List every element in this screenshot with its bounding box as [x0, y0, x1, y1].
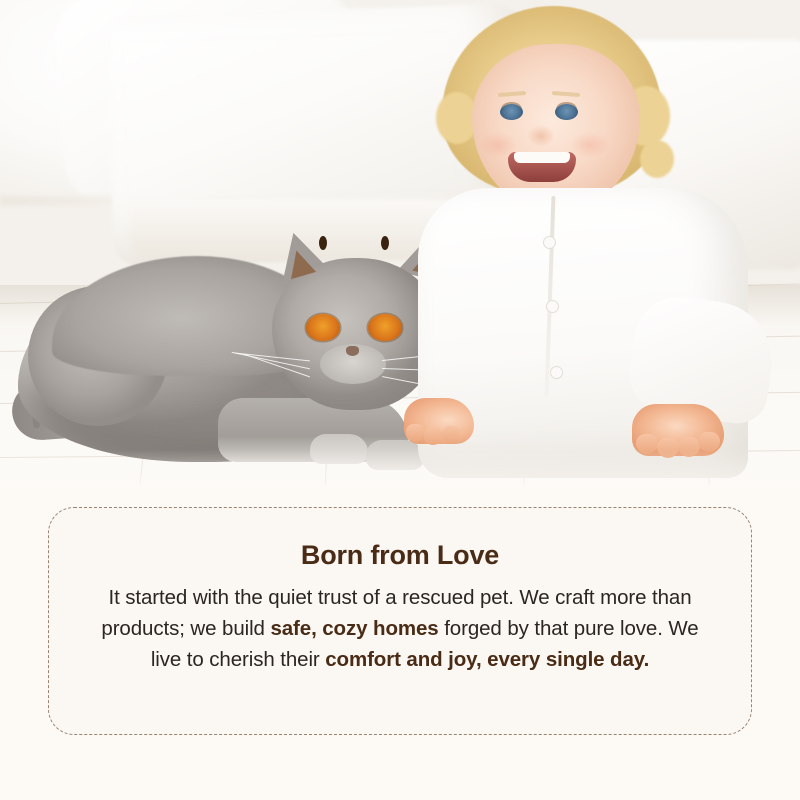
onesie-button [550, 366, 563, 379]
baby-illustration [400, 0, 800, 500]
baby-hand-right [632, 404, 724, 456]
baby-teeth [514, 152, 570, 163]
card-body-segment-4: comfort and joy, every single day. [325, 648, 649, 671]
onesie-button [546, 300, 559, 313]
cat-eye-left [306, 314, 340, 341]
promo-card-stage: Born from Love It started with the quiet… [0, 0, 800, 800]
hair-curl [640, 140, 674, 178]
cat-nose [346, 346, 359, 356]
card-body: It started with the quiet trust of a res… [95, 582, 705, 675]
baby-hand-left [404, 398, 474, 444]
story-card: Born from Love It started with the quiet… [48, 507, 752, 735]
hero-photo [0, 0, 800, 520]
baby-cheek-right [570, 132, 610, 158]
cat-pupil-right [381, 236, 389, 250]
baby-eye-right [555, 104, 578, 120]
cat-pupil-left [319, 236, 327, 250]
baby-nose [528, 124, 554, 146]
baby-smile [508, 152, 576, 182]
cat-eye-right [368, 314, 402, 341]
card-title: Born from Love [95, 540, 705, 571]
onesie-button [543, 236, 556, 249]
card-body-segment-2: safe, cozy homes [270, 617, 438, 640]
baby-eye-left [500, 104, 523, 120]
